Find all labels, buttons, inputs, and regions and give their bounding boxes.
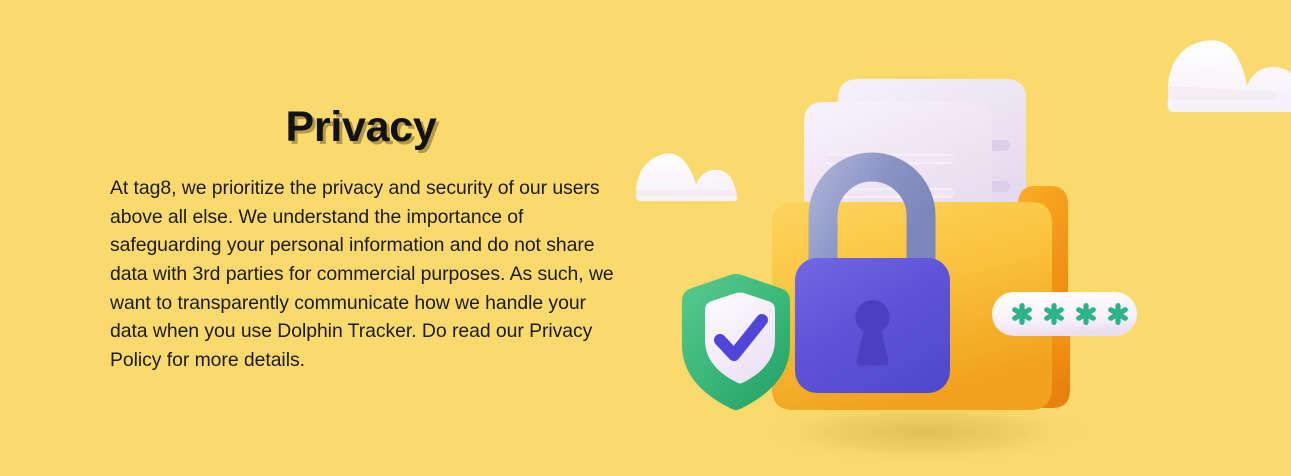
text-column: Privacy At tag8, we prioritize the priva… xyxy=(110,104,630,374)
cloud-large-icon xyxy=(1168,40,1291,112)
privacy-banner: Privacy At tag8, we prioritize the priva… xyxy=(0,0,1291,476)
page-title: Privacy xyxy=(110,104,612,151)
privacy-body-text: At tag8, we prioritize the privacy and s… xyxy=(110,174,622,374)
cloud-small-icon xyxy=(636,154,737,201)
locked-folder-illustration xyxy=(620,0,1291,476)
password-field[interactable] xyxy=(992,292,1137,336)
